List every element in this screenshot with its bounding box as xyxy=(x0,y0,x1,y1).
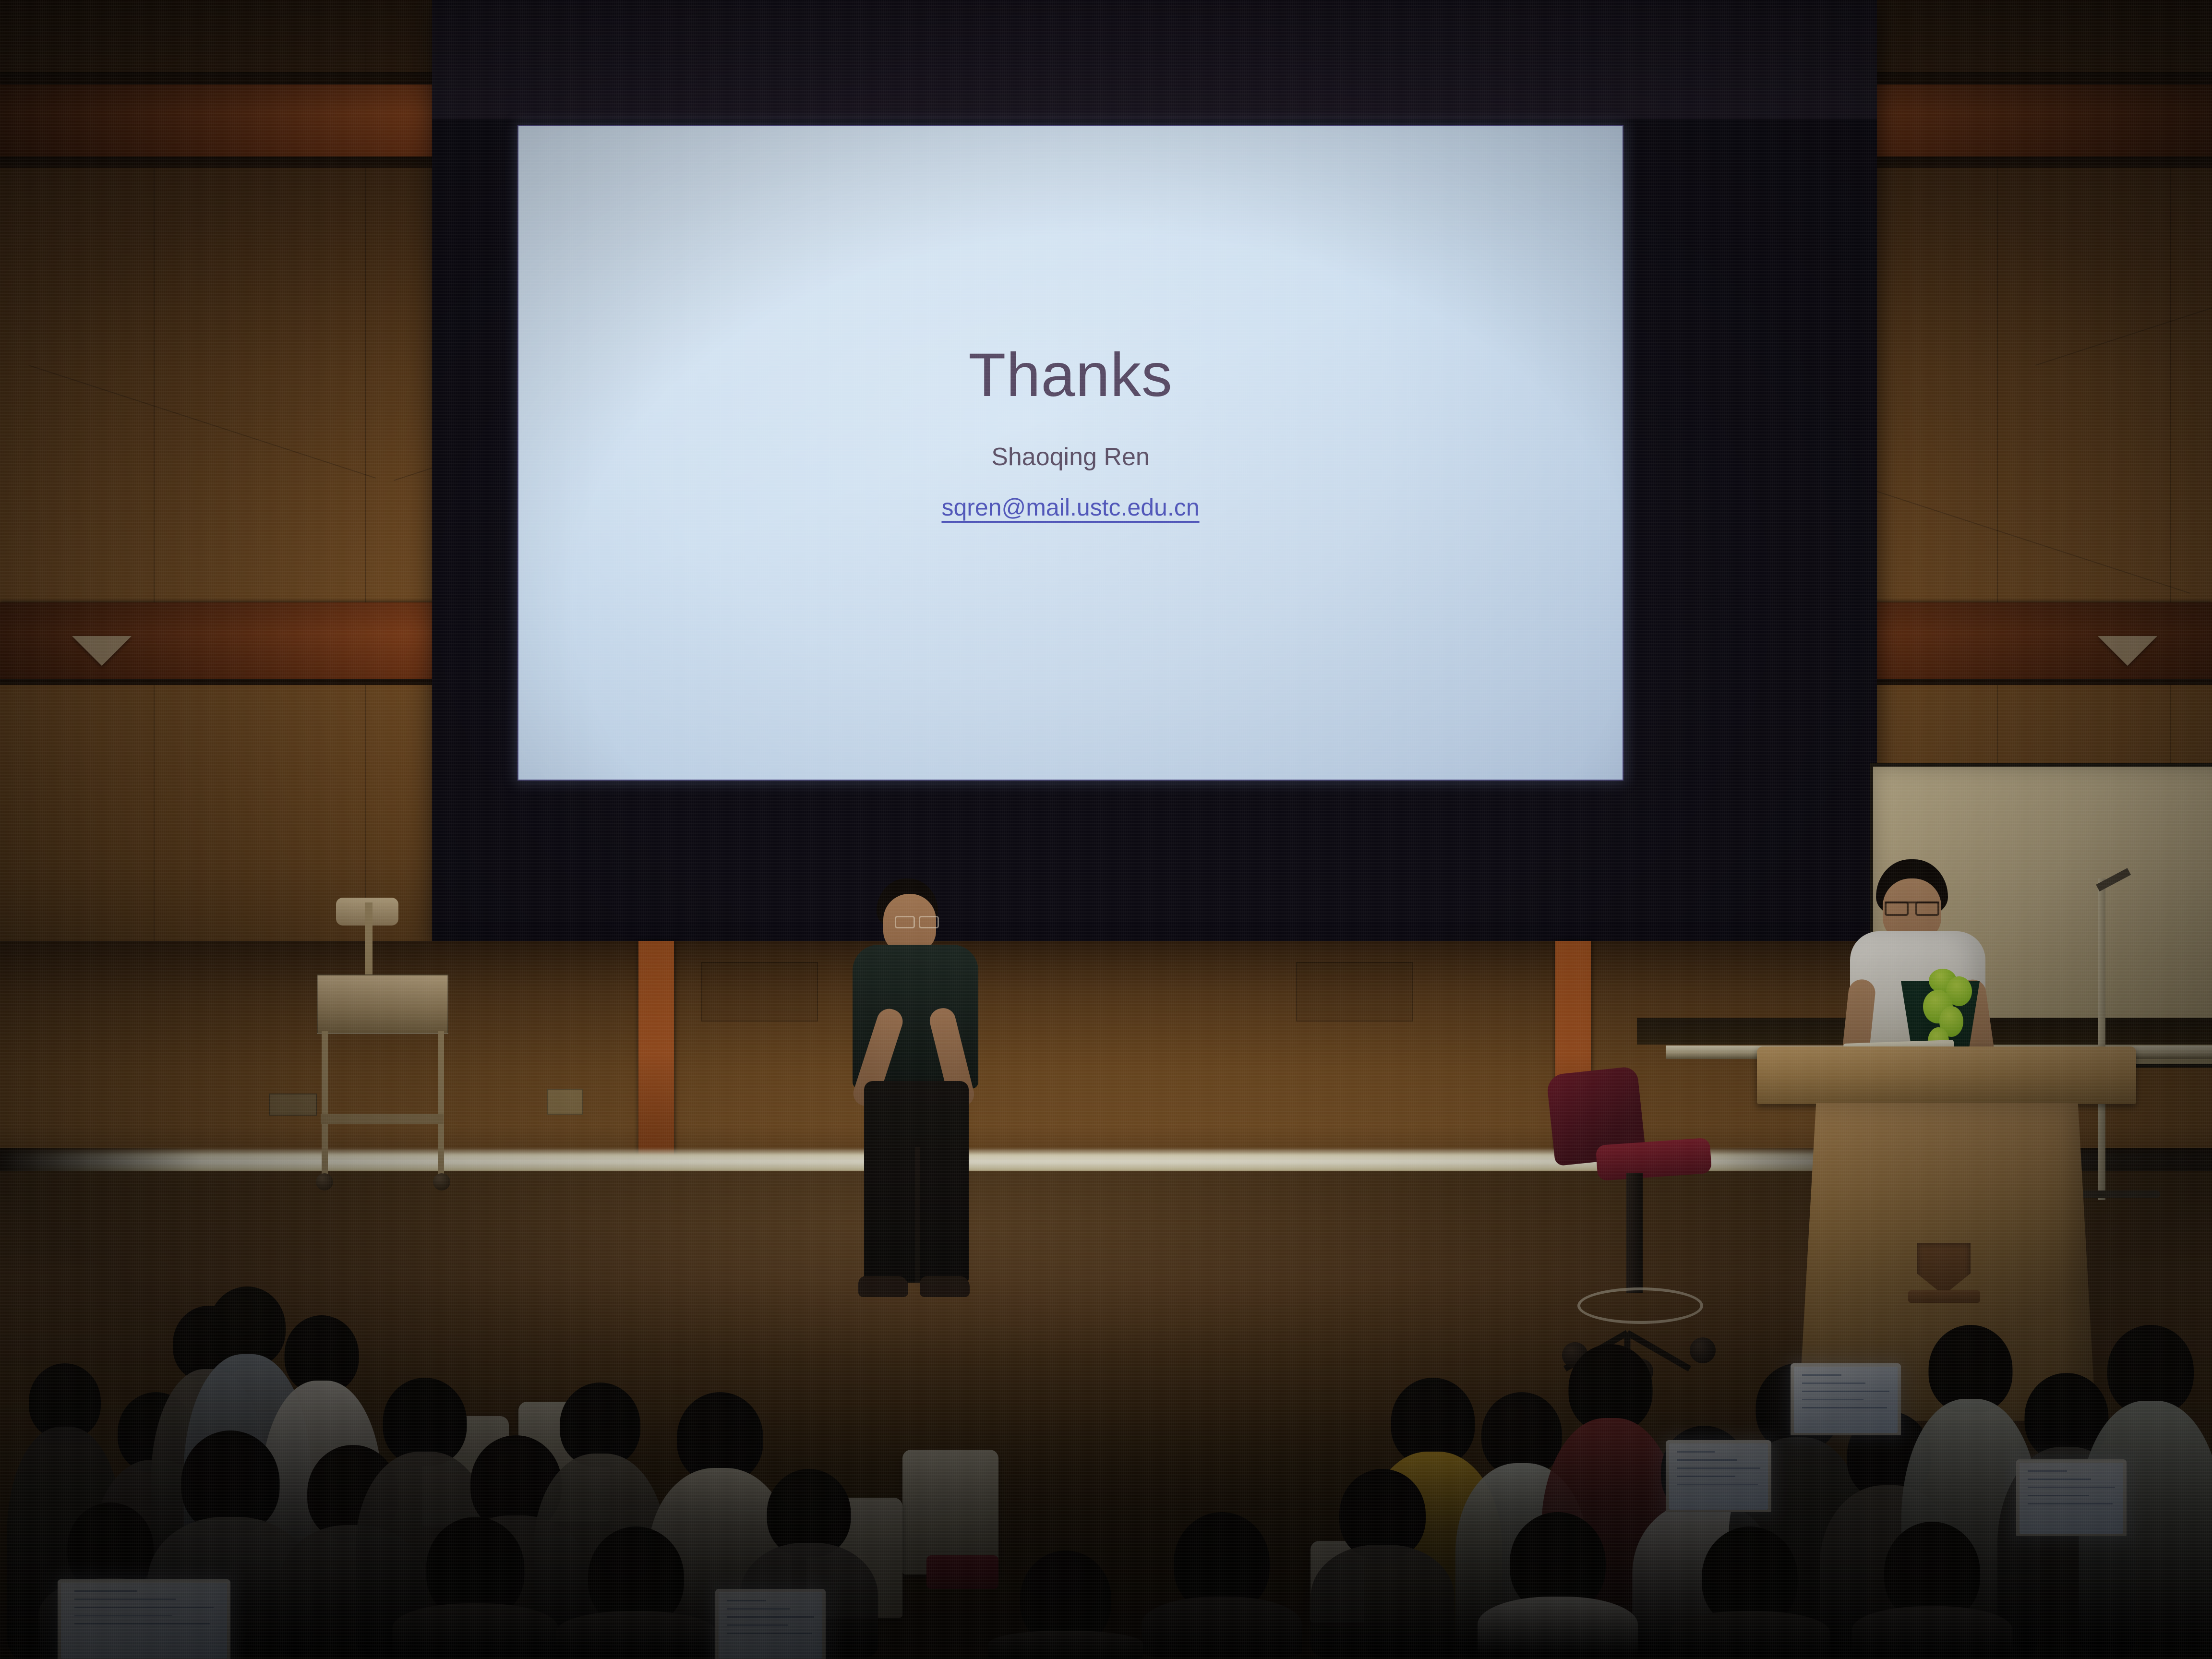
laptop[interactable] xyxy=(58,1579,230,1659)
screen-text-line xyxy=(1677,1459,1737,1461)
screen-bottom-bar xyxy=(432,922,1877,941)
projected-slide: Thanks Shaoqing Ren sqren@mail.ustc.edu.… xyxy=(518,126,1623,780)
stool-caster xyxy=(1690,1337,1716,1363)
wall-panel xyxy=(1296,962,1413,1022)
screen-text-line xyxy=(1802,1382,1865,1384)
screen-text-line xyxy=(1802,1391,1889,1392)
wall-plate[interactable] xyxy=(547,1089,583,1115)
glasses-icon xyxy=(895,916,939,925)
audience-member xyxy=(1488,1512,1627,1659)
screen-text-line xyxy=(1802,1374,1841,1376)
screen-text-line xyxy=(74,1599,176,1600)
screen-text-line xyxy=(2028,1479,2091,1480)
drafting-stool[interactable] xyxy=(1551,1070,1733,1387)
audience-member xyxy=(1320,1469,1445,1659)
screen-text-line xyxy=(74,1607,214,1608)
trolley-top xyxy=(317,974,448,1034)
shoe xyxy=(858,1276,908,1297)
torso xyxy=(1478,1597,1638,1657)
screen-text-line xyxy=(1677,1476,1735,1477)
torso xyxy=(1142,1597,1302,1657)
trolley-shelf xyxy=(321,1114,444,1124)
screen-text-line xyxy=(2028,1495,2089,1496)
laptop-screen xyxy=(719,1592,822,1659)
trolley-leg xyxy=(438,1031,444,1175)
screen-text-line xyxy=(1677,1467,1760,1469)
stool-seat xyxy=(1596,1138,1712,1181)
lecture-hall-photo: Thanks Shaoqing Ren sqren@mail.ustc.edu.… xyxy=(0,0,2212,1659)
screen-text-line xyxy=(74,1615,172,1616)
audience-member xyxy=(403,1517,547,1659)
audience-member xyxy=(1152,1512,1291,1659)
wall-triangle-fixture-icon xyxy=(2098,636,2157,666)
screen-text-line xyxy=(727,1608,790,1610)
stool-post xyxy=(1626,1173,1643,1293)
glasses-icon xyxy=(1885,902,1939,911)
screen-text-line xyxy=(1802,1399,1863,1400)
audience-member xyxy=(1863,1522,2002,1659)
laptop-screen xyxy=(1794,1367,1898,1433)
crest-scroll xyxy=(1908,1290,1980,1303)
strip-light-shadow-left xyxy=(0,1148,202,1173)
screen-text-line xyxy=(74,1590,137,1592)
stool-footring xyxy=(1577,1287,1703,1324)
power-outlet[interactable] xyxy=(269,1094,317,1116)
equipment-trolley[interactable] xyxy=(312,974,456,1224)
torso xyxy=(1852,1606,2012,1657)
crest-shield xyxy=(1917,1243,1971,1295)
slide-email-link[interactable]: sqren@mail.ustc.edu.cn xyxy=(941,493,1199,521)
lectern-top xyxy=(1757,1046,2136,1104)
torso xyxy=(1311,1545,1455,1657)
presenter-standing xyxy=(845,878,989,1306)
audience-member xyxy=(998,1551,1133,1659)
screen-text-line xyxy=(727,1616,814,1618)
slide-title: Thanks xyxy=(518,344,1623,407)
laptop-screen xyxy=(2020,1463,2123,1534)
trolley-leg xyxy=(322,1031,328,1175)
screen-text-line xyxy=(74,1623,211,1624)
screen-text-line xyxy=(2028,1503,2113,1504)
torso xyxy=(1670,1611,1830,1657)
laptop[interactable] xyxy=(715,1589,826,1659)
screen-text-line xyxy=(727,1624,788,1626)
screen-text-line xyxy=(2028,1487,2115,1488)
laptop[interactable] xyxy=(2016,1459,2127,1536)
torso xyxy=(988,1631,1143,1659)
shoe xyxy=(920,1276,970,1297)
wall-triangle-fixture-icon xyxy=(72,636,132,666)
trolley-caster xyxy=(316,1173,333,1190)
laptop[interactable] xyxy=(1666,1440,1771,1512)
seat-cushion xyxy=(926,1555,998,1589)
screen-text-line xyxy=(1677,1451,1714,1453)
laptop-screen xyxy=(61,1583,227,1659)
university-crest-icon xyxy=(1908,1243,1980,1310)
trolley-caster xyxy=(433,1173,450,1190)
laptop[interactable] xyxy=(1791,1363,1901,1435)
screen-text-line xyxy=(727,1600,766,1601)
screen-top-casing xyxy=(432,0,1877,119)
screen-text-line xyxy=(1677,1484,1758,1485)
torso xyxy=(393,1603,558,1657)
laptop-screen xyxy=(1669,1443,1768,1510)
audience-member xyxy=(566,1527,706,1659)
leg-gap xyxy=(915,1147,920,1286)
screen-text-line xyxy=(2028,1470,2067,1472)
screen-text-line xyxy=(727,1633,812,1634)
audience-member xyxy=(1680,1527,1819,1659)
torso xyxy=(556,1611,716,1657)
screen-text-line xyxy=(1802,1407,1887,1408)
slide-author: Shaoqing Ren xyxy=(518,443,1623,471)
wall-panel xyxy=(701,962,818,1022)
